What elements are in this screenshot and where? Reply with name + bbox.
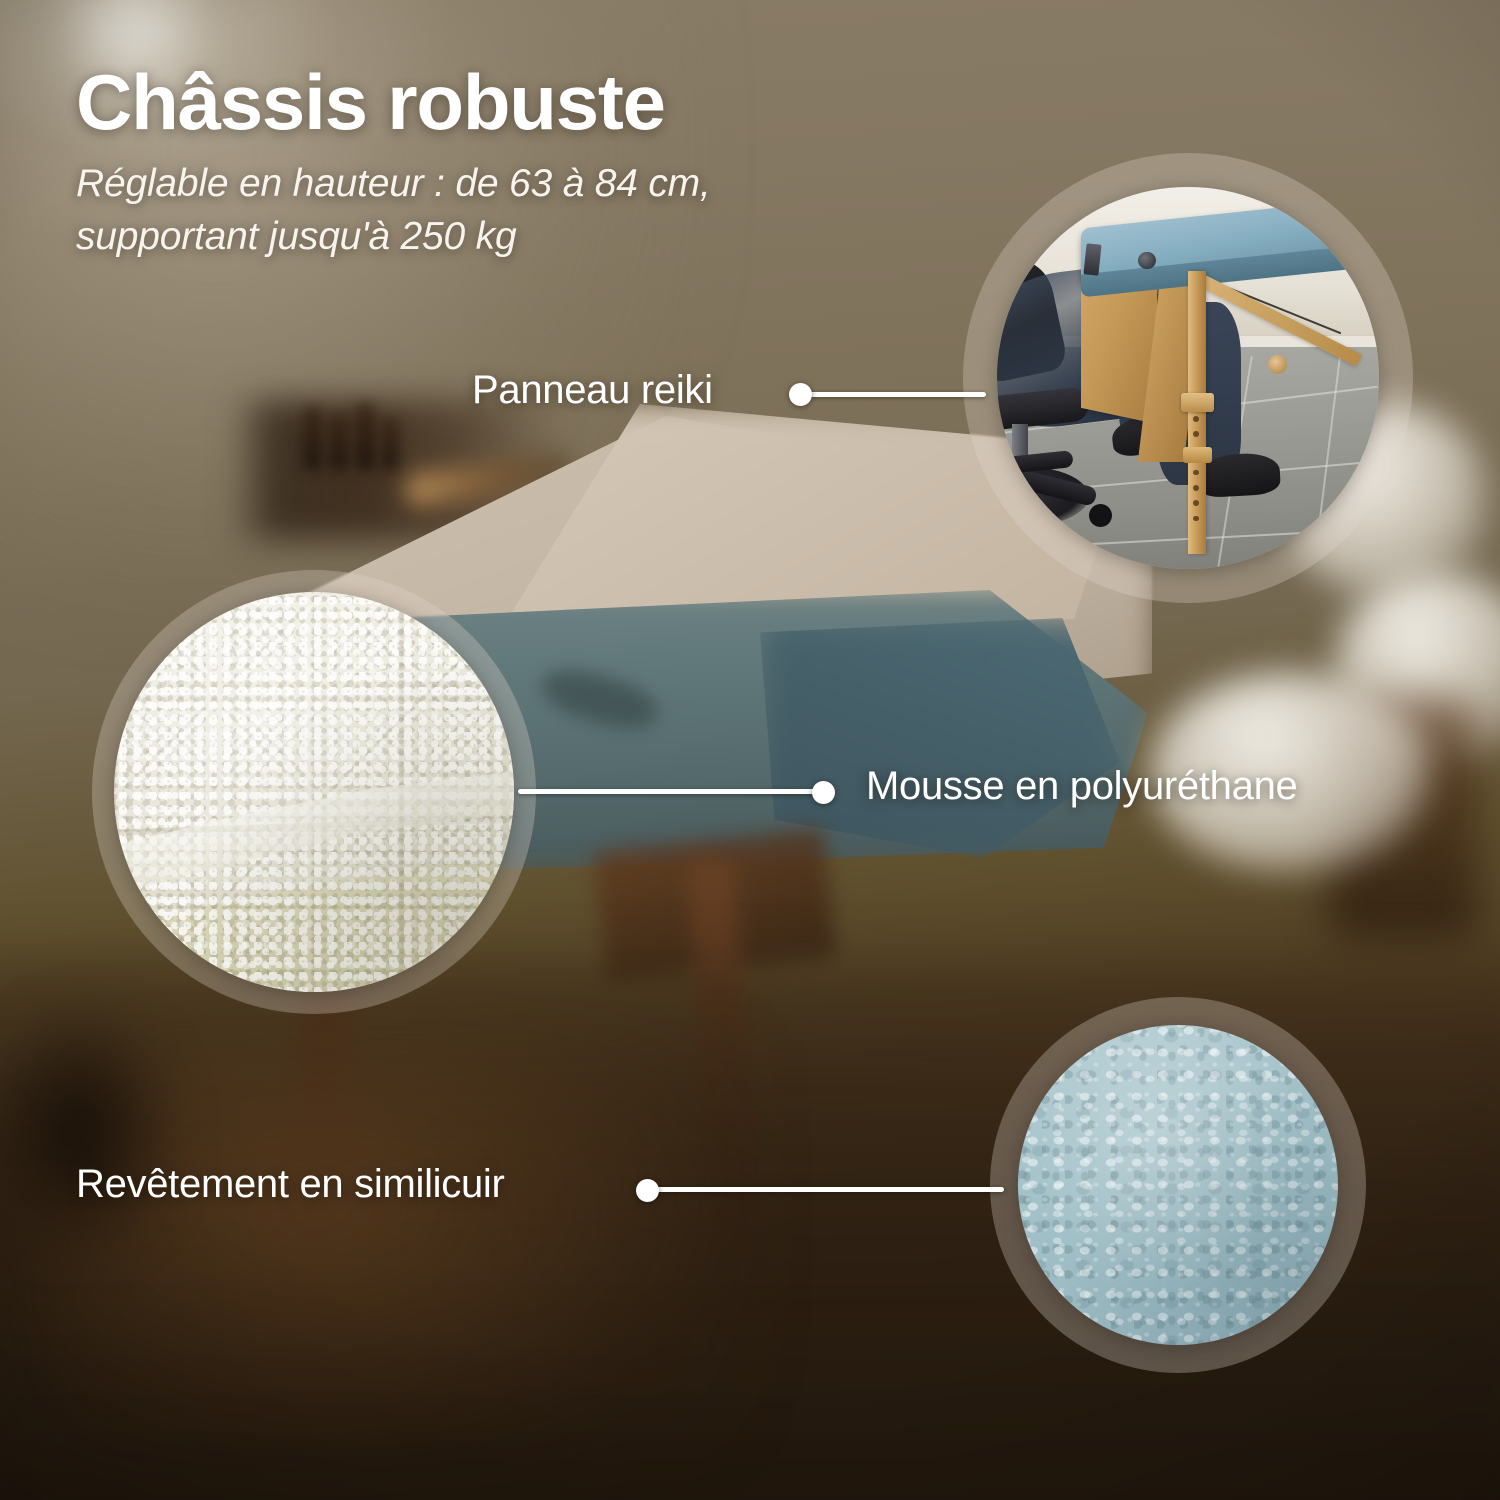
foam-shading (114, 592, 514, 992)
inset-panneau-reiki-photo (997, 187, 1379, 569)
leader-dot-mousse-polyurethane (812, 781, 835, 804)
inset-panneau-reiki (963, 153, 1413, 603)
leader-dot-revetement-similicuir (636, 1179, 659, 1202)
inset-mousse-polyurethane (92, 570, 536, 1014)
page-title: Châssis robuste (76, 62, 896, 143)
reiki-adjustable-leg (1188, 271, 1206, 554)
reiki-leg-hole (1193, 416, 1199, 422)
callout-label-revetement-similicuir: Revêtement en similicuir (76, 1162, 505, 1207)
reiki-height-lock (1183, 447, 1212, 463)
callout-label-panneau-reiki: Panneau reiki (472, 368, 713, 413)
page-subtitle: Réglable en hauteur : de 63 à 84 cm, sup… (76, 157, 896, 263)
leather-photo-content (1018, 1025, 1338, 1345)
foam-photo-content (114, 592, 514, 992)
inset-similicuir-photo (1018, 1025, 1338, 1345)
headline-block: Châssis robuste Réglable en hauteur : de… (76, 62, 896, 263)
reiki-height-lock (1181, 393, 1213, 412)
leader-line-panneau-reiki (800, 392, 986, 397)
reiki-leg-hole (1193, 500, 1199, 506)
leather-shading (1018, 1025, 1338, 1345)
callout-label-mousse-polyurethane: Mousse en polyuréthane (866, 764, 1297, 809)
inset-mousse-photo (114, 592, 514, 992)
reiki-stool-caster (1089, 504, 1112, 527)
product-infographic: Châssis robuste Réglable en hauteur : de… (0, 0, 1500, 1500)
leader-line-mousse-polyurethane (518, 789, 826, 794)
reiki-photo-content (997, 187, 1379, 569)
leader-dot-panneau-reiki (789, 383, 812, 406)
reiki-knob (1138, 252, 1155, 269)
inset-revetement-similicuir (990, 997, 1366, 1373)
reiki-leg-hole (1193, 485, 1199, 491)
leader-line-revetement-similicuir (646, 1187, 1004, 1192)
